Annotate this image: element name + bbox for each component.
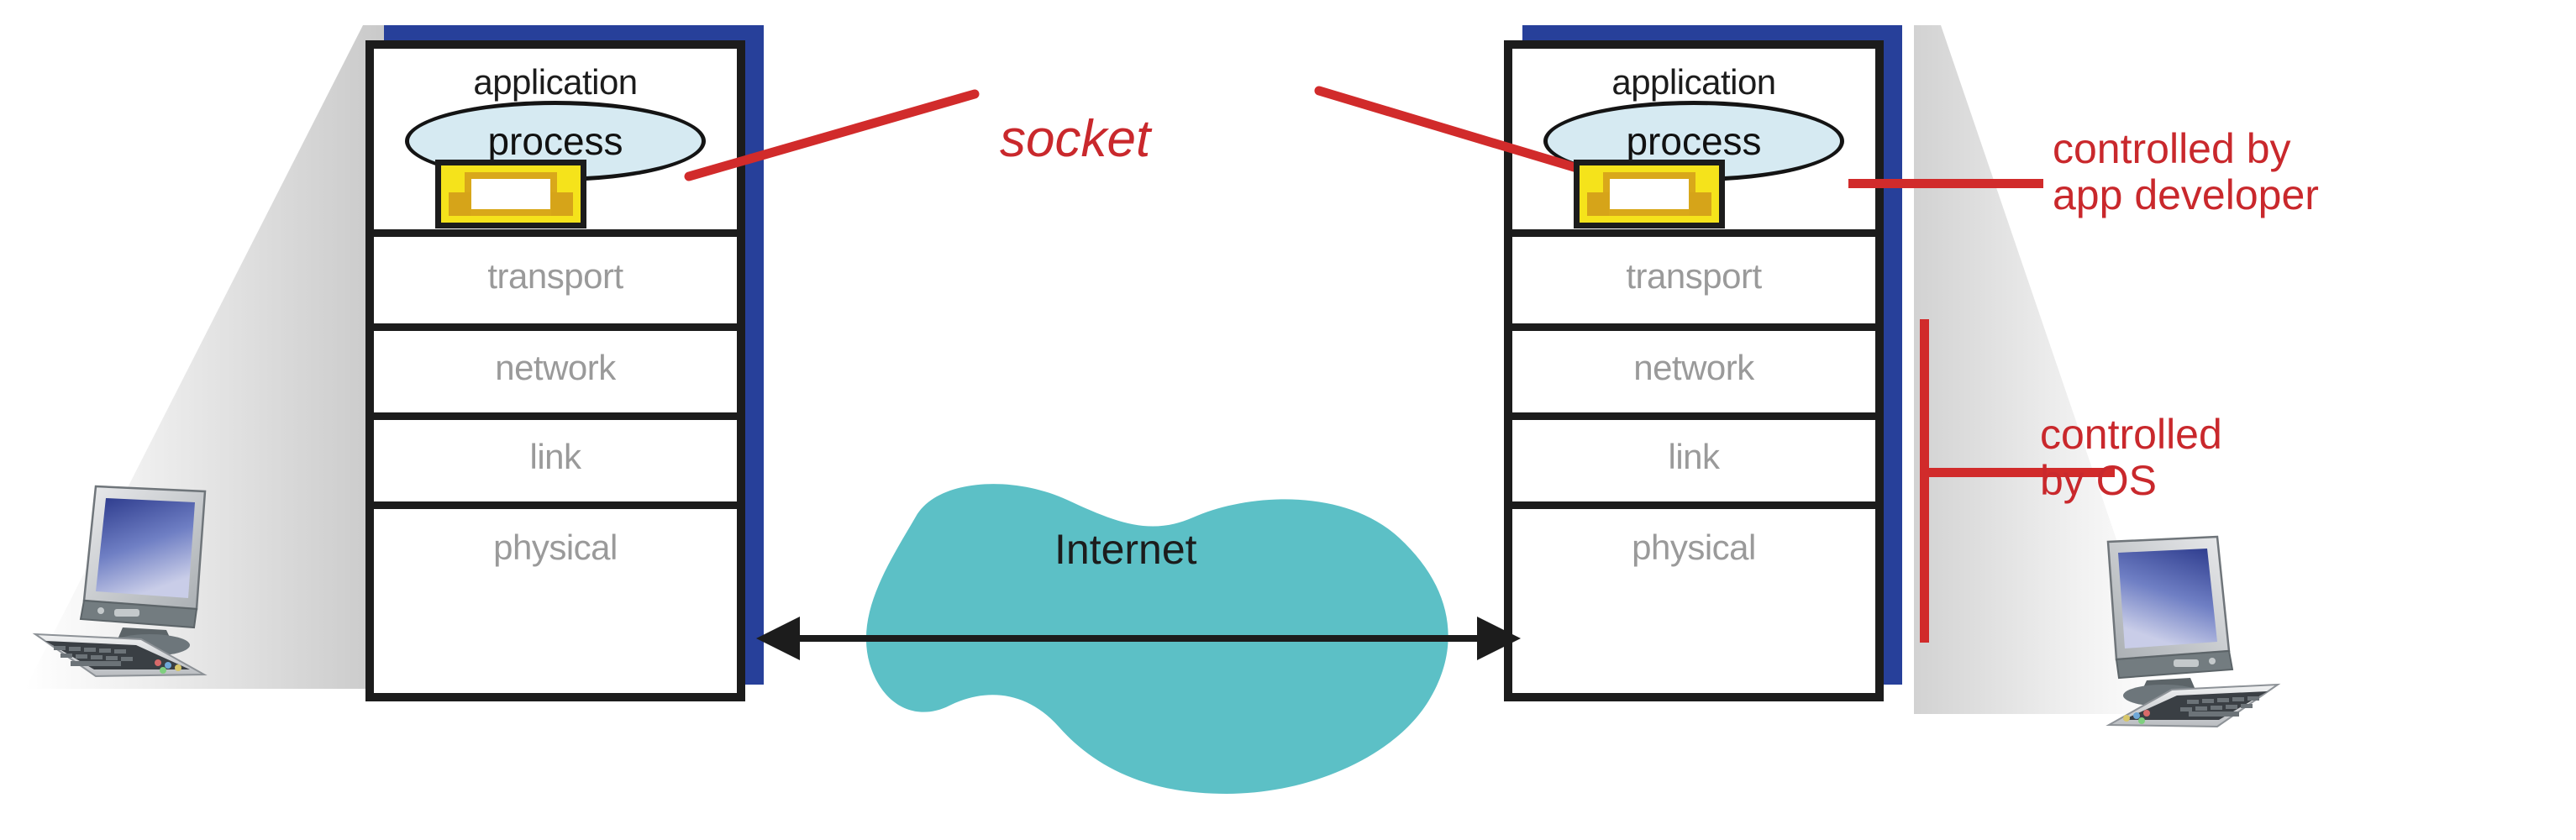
computer-icon-left	[24, 475, 242, 701]
app-developer-line-1: controlled by	[2053, 126, 2319, 172]
controlled-by-app-developer-label: controlled by app developer	[2053, 126, 2319, 218]
socket-pin-left-1	[449, 192, 471, 216]
layer-network-right: network	[1512, 323, 1875, 412]
layer-label-link: link	[529, 437, 581, 477]
layer-label-network: network	[1633, 348, 1754, 388]
os-line-1: controlled	[2040, 412, 2222, 458]
socket-pin-left-2	[551, 192, 573, 216]
layer-transport-right: transport	[1512, 229, 1875, 323]
socket-icon-right[interactable]	[1574, 160, 1725, 228]
os-bracket-vertical-line	[1920, 319, 1929, 643]
layer-label-transport: transport	[487, 256, 623, 297]
diagram-canvas: application process transport network li…	[0, 0, 2576, 840]
socket-pin-right-1	[1587, 192, 1609, 216]
layer-label-transport: transport	[1626, 256, 1761, 297]
computer-icon-right	[2063, 525, 2289, 752]
layer-physical-left: physical	[374, 501, 737, 594]
internet-label: Internet	[1054, 525, 1197, 574]
controlled-by-os-label: controlled by OS	[2040, 412, 2222, 504]
socket-icon-left[interactable]	[435, 160, 586, 228]
layer-link-left: link	[374, 412, 737, 501]
socket-inner-left	[465, 172, 557, 216]
socket-annotation-label: socket	[1000, 109, 1150, 169]
layer-label-physical: physical	[493, 528, 618, 568]
layer-network-left: network	[374, 323, 737, 412]
layer-physical-right: physical	[1512, 501, 1875, 594]
socket-inner-right	[1603, 172, 1695, 216]
socket-pin-right-2	[1690, 192, 1711, 216]
process-label: process	[487, 118, 623, 164]
layer-label-physical: physical	[1632, 528, 1756, 568]
app-developer-line-2: app developer	[2053, 172, 2319, 218]
os-line-2: by OS	[2040, 458, 2222, 504]
layer-label-link: link	[1668, 437, 1719, 477]
app-developer-leader-line	[1848, 179, 2043, 188]
layer-link-right: link	[1512, 412, 1875, 501]
layer-label-network: network	[495, 348, 616, 388]
layer-transport-left: transport	[374, 229, 737, 323]
double-arrow-icon	[748, 605, 1529, 672]
layer-label-application: application	[473, 62, 637, 102]
